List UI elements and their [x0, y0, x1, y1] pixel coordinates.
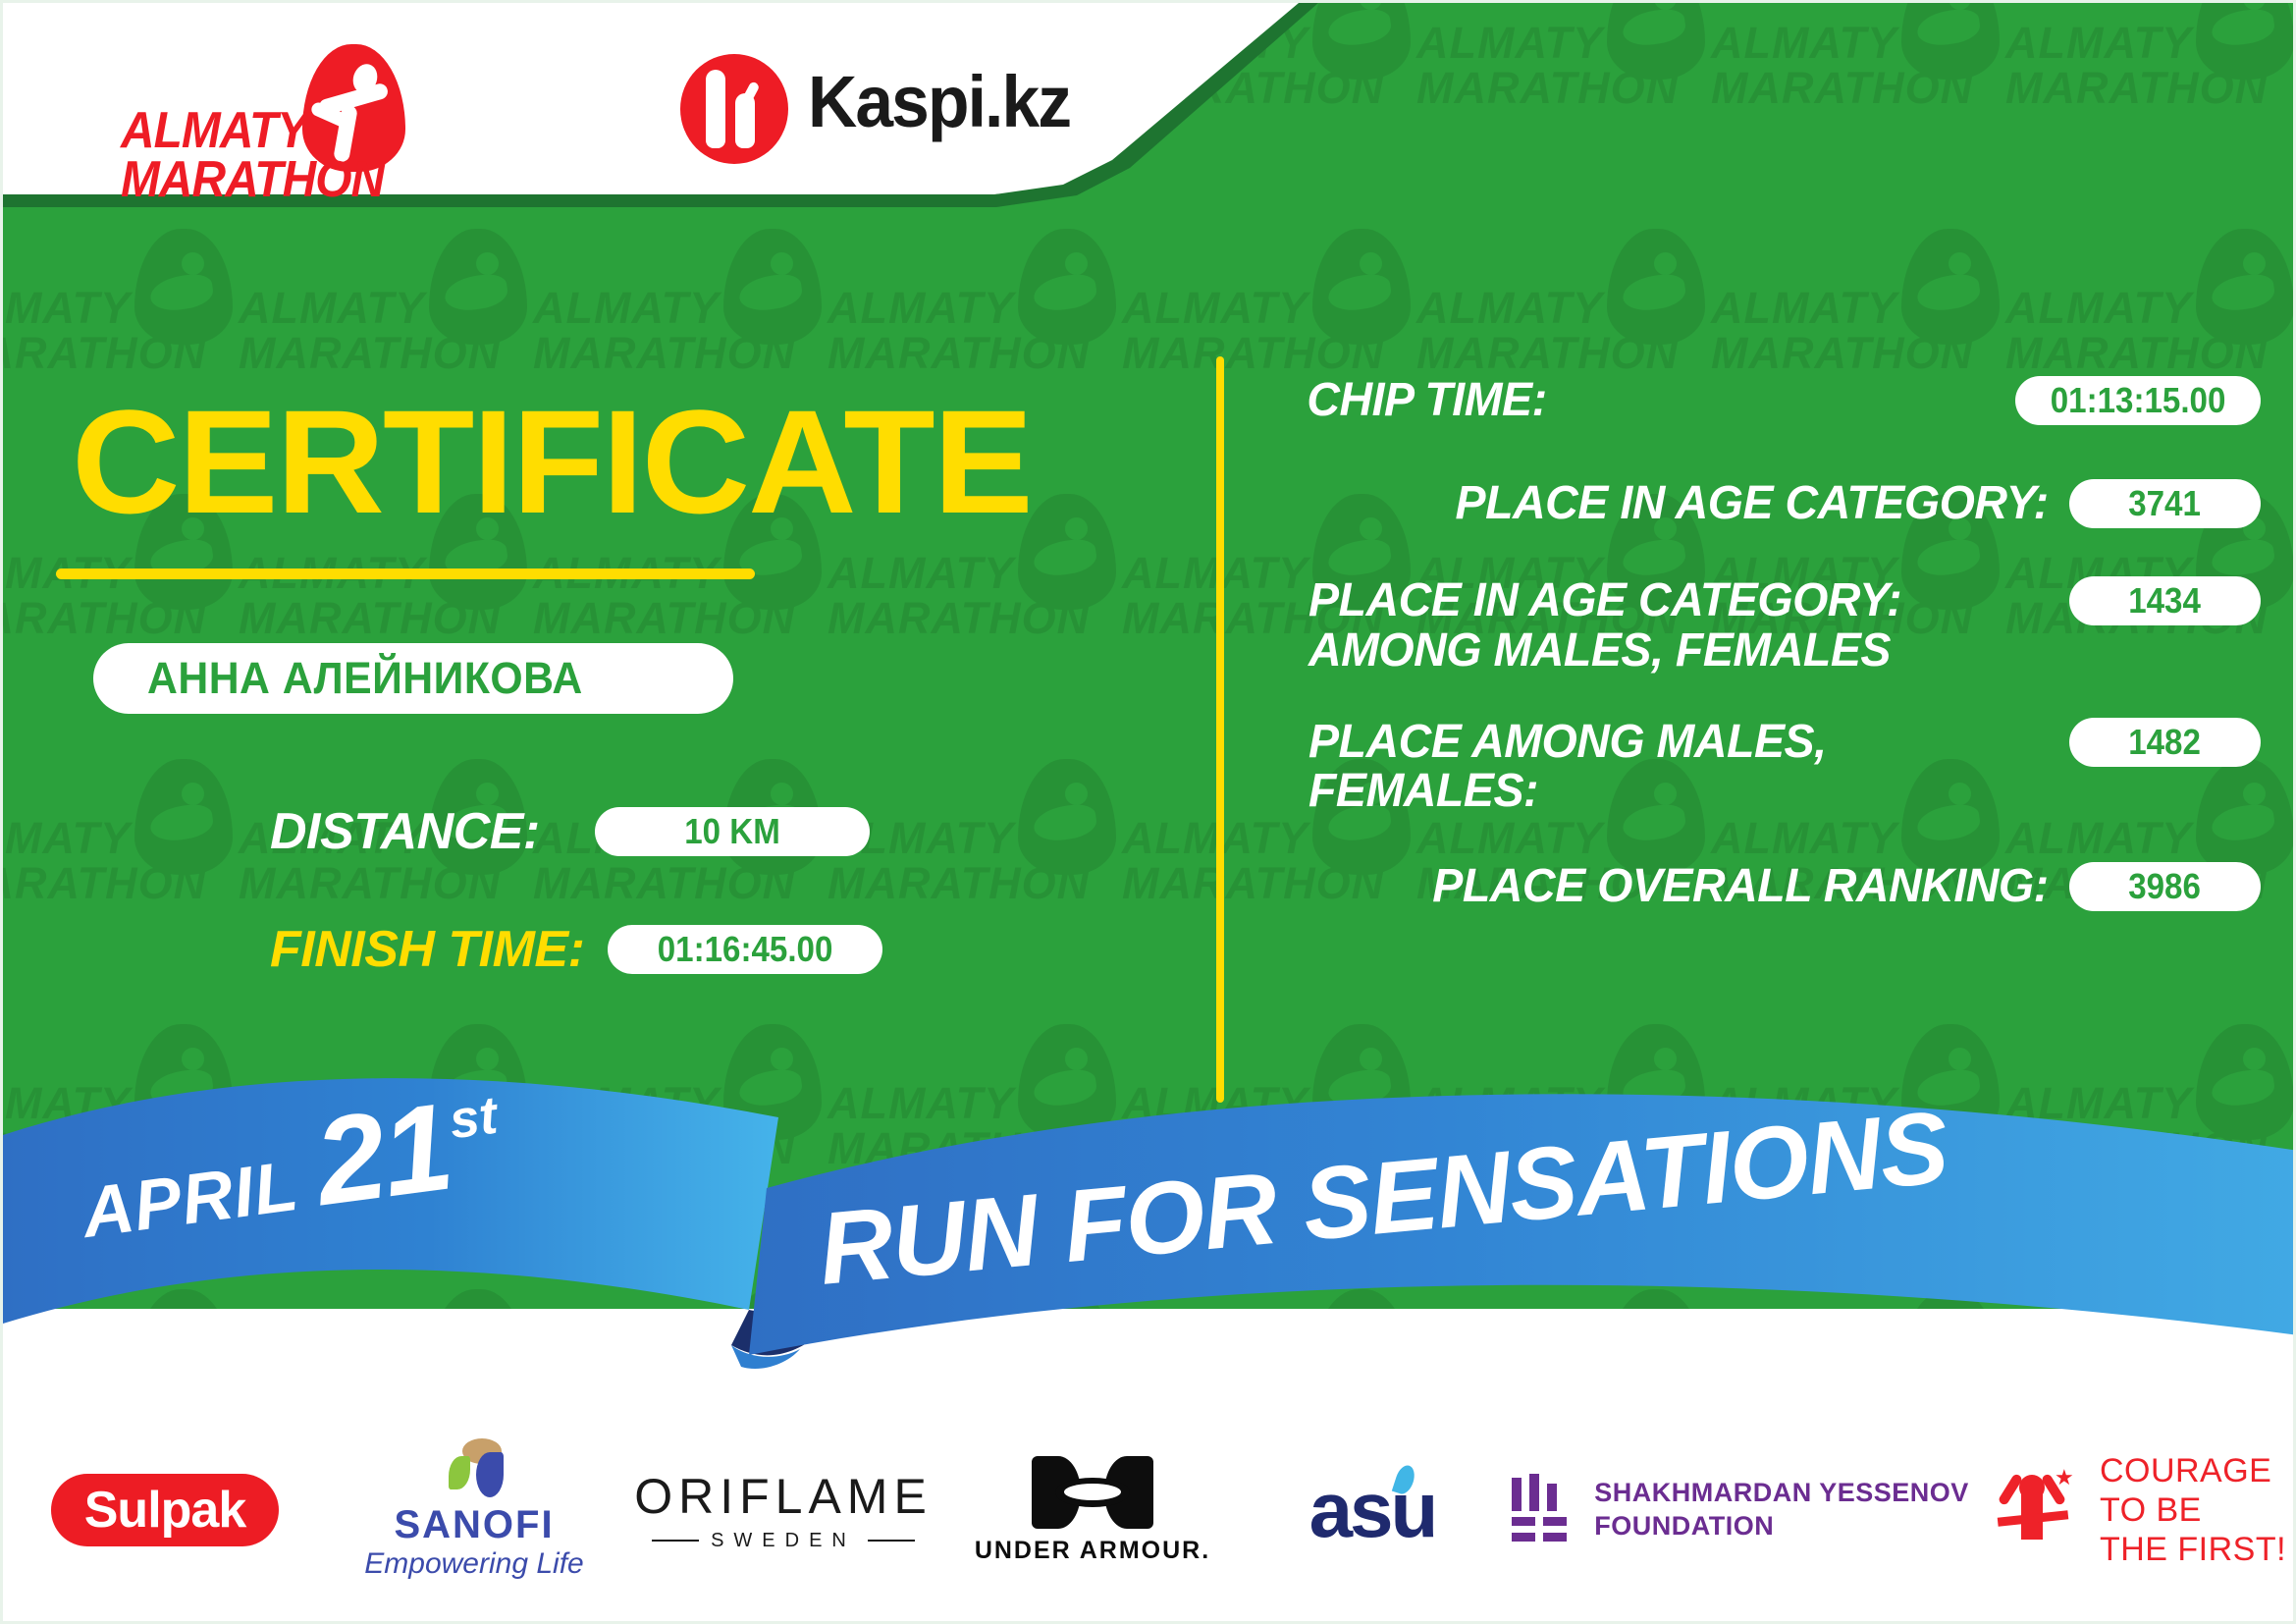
yessenov-mark-icon: [1512, 1474, 1573, 1546]
stat-row: PLACE OVERALL RANKING: 3986: [1269, 862, 2261, 912]
watermark-line2: MARATHON: [1711, 66, 1973, 110]
kaspi-logo-text: Kaspi.kz: [808, 66, 1070, 138]
oriflame-name: ORIFLAME: [634, 1470, 933, 1524]
finish-time-value: 01:16:45.00: [658, 929, 833, 970]
courage-line1: COURAGE: [2100, 1451, 2286, 1490]
sponsor-sanofi: SANOFI Empowering Life: [327, 1438, 621, 1582]
distance-value: 10 KM: [684, 811, 780, 852]
watermark-line2: MARATHON: [1711, 331, 1973, 375]
stat-value-pill: 1434: [2069, 576, 2261, 625]
sponsor-oriflame: ORIFLAME SWEDEN: [621, 1470, 945, 1551]
watermark-line2: MARATHON: [828, 861, 1090, 905]
watermark-line1: ALMATY: [239, 286, 425, 330]
athlete-name-value: АННА АЛЕЙНИКОВА: [147, 653, 583, 704]
watermark-line2: MARATHON: [3, 861, 206, 905]
watermark-line1: ALMATY: [1122, 286, 1308, 330]
stat-value: 3986: [2129, 866, 2202, 907]
distance-row: DISTANCE: 10 KM: [270, 806, 870, 857]
watermark-line2: MARATHON: [239, 331, 501, 375]
watermark-line1: ALMATY: [2005, 21, 2192, 65]
asu-name: asu: [1309, 1471, 1436, 1549]
watermark-line2: MARATHON: [2005, 331, 2268, 375]
under-armour-mark-icon: [1032, 1456, 1153, 1529]
watermark-line2: MARATHON: [2005, 66, 2268, 110]
kaspi-people-icon: [680, 54, 788, 164]
sponsor-bar: Sulpak SANOFI Empowering Life ORIFLAME S…: [3, 1417, 2296, 1603]
stat-value: 3741: [2129, 483, 2202, 524]
yessenov-line1: SHAKHMARDAN YESSENOV: [1594, 1477, 1969, 1510]
finish-time-label: FINISH TIME:: [270, 924, 584, 975]
watermark-tile: ALMATYMARATHON: [3, 759, 239, 1024]
under-armour-name: UNDER ARMOUR.: [975, 1537, 1210, 1565]
watermark-line2: MARATHON: [239, 861, 501, 905]
watermark-tile: ALMATYMARATHON: [533, 759, 828, 1024]
star-icon: ★: [2055, 1467, 2074, 1489]
asu-wordmark: asu: [1309, 1466, 1436, 1553]
watermark-line2: MARATHON: [533, 331, 795, 375]
stat-row: PLACE IN AGE CATEGORY: 3741: [1269, 479, 2261, 529]
stat-value-pill: 3986: [2069, 862, 2261, 911]
stat-value: 01:13:15.00: [2051, 380, 2226, 421]
sulpak-name: Sulpak: [84, 1482, 246, 1539]
courage-name: COURAGE TO BE THE FIRST!: [2100, 1451, 2286, 1569]
sponsor-yessenov: SHAKHMARDAN YESSENOV FOUNDATION: [1505, 1474, 1976, 1546]
yessenov-name: SHAKHMARDAN YESSENOV FOUNDATION: [1594, 1477, 1969, 1543]
sanofi-mark-icon: [443, 1438, 506, 1497]
watermark-line2: MARATHON: [828, 596, 1090, 640]
sanofi-tagline: Empowering Life: [364, 1546, 583, 1582]
kaspi-person-tall-icon: [706, 70, 725, 148]
watermark-line2: MARATHON: [533, 596, 795, 640]
finish-time-row: FINISH TIME: 01:16:45.00: [270, 924, 882, 975]
sulpak-logo: Sulpak: [51, 1474, 280, 1547]
watermark-line2: MARATHON: [3, 596, 206, 640]
courage-line3: THE FIRST!: [2100, 1530, 2286, 1569]
watermark-line2: MARATHON: [3, 331, 206, 375]
almaty-logo-line2: MARATHON: [121, 154, 384, 205]
distance-label: DISTANCE:: [270, 806, 540, 857]
watermark-tile: ALMATYMARATHON: [828, 759, 1122, 1024]
athlete-name-field: АННА АЛЕЙНИКОВА: [93, 643, 733, 714]
oriflame-country: SWEDEN: [652, 1530, 915, 1551]
stat-label: PLACE IN AGE CATEGORY: AMONG MALES, FEMA…: [1293, 576, 2069, 677]
sanofi-name: SANOFI: [394, 1503, 554, 1546]
watermark-tile: ALMATYMARATHON: [1711, 3, 2005, 229]
watermark-line2: MARATHON: [1416, 66, 1679, 110]
vertical-divider: [1216, 356, 1224, 1103]
watermark-line1: ALMATY: [533, 286, 720, 330]
sponsor-asu: asu: [1240, 1471, 1505, 1549]
watermark-line1: ALMATY: [1416, 21, 1603, 65]
watermark-tile: ALMATYMARATHON: [1416, 3, 1711, 229]
stat-row: PLACE AMONG MALES, FEMALES: 1482: [1269, 718, 2261, 818]
watermark-line1: ALMATY: [2005, 286, 2192, 330]
stat-label: PLACE AMONG MALES, FEMALES:: [1293, 718, 2069, 818]
stat-value-pill: 01:13:15.00: [2015, 376, 2261, 425]
watermark-line2: MARATHON: [828, 331, 1090, 375]
stat-value: 1482: [2129, 722, 2202, 763]
title-underline: [56, 568, 755, 579]
watermark-line1: ALMATY: [828, 286, 1014, 330]
watermark-tile: ALMATYMARATHON: [2005, 3, 2296, 229]
watermark-line1: ALMATY: [1711, 21, 1897, 65]
stat-label: PLACE IN AGE CATEGORY:: [1293, 479, 2069, 529]
page-title: CERTIFICATE: [72, 388, 1032, 535]
certificate-canvas: ALMATYMARATHONALMATYMARATHONALMATYMARATH…: [0, 0, 2296, 1624]
stat-row: CHIP TIME: 01:13:15.00: [1269, 376, 2261, 426]
stat-value-pill: 1482: [2069, 718, 2261, 767]
watermark-tile: ALMATYMARATHON: [239, 759, 533, 1024]
stat-label: CHIP TIME:: [1292, 376, 2015, 426]
event-day: 21: [309, 1092, 455, 1218]
kaspi-logo: Kaspi.kz: [680, 54, 1093, 172]
stat-row: PLACE IN AGE CATEGORY: AMONG MALES, FEMA…: [1269, 576, 2261, 677]
sponsor-under-armour: UNDER ARMOUR.: [945, 1456, 1240, 1565]
stat-value: 1434: [2129, 580, 2202, 622]
watermark-line2: MARATHON: [239, 596, 501, 640]
distance-value-pill: 10 KM: [595, 807, 870, 856]
watermark-line1: ALMATY: [3, 286, 131, 330]
yessenov-line2: FOUNDATION: [1594, 1510, 1969, 1543]
watermark-line2: MARATHON: [1416, 331, 1679, 375]
watermark-line2: MARATHON: [1122, 331, 1384, 375]
watermark-line1: ALMATY: [1416, 286, 1603, 330]
event-day-suffix: st: [447, 1089, 501, 1148]
results-panel: CHIP TIME: 01:13:15.00 PLACE IN AGE CATE…: [1269, 376, 2261, 930]
almaty-marathon-logo: ALMATY MARATHON: [121, 44, 435, 182]
courage-line2: TO BE: [2100, 1490, 2286, 1530]
finish-time-value-pill: 01:16:45.00: [608, 925, 882, 974]
stat-label: PLACE OVERALL RANKING:: [1293, 862, 2069, 912]
watermark-line1: ALMATY: [1711, 286, 1897, 330]
watermark-line1: ALMATY: [3, 816, 131, 860]
almaty-logo-line1: ALMATY: [121, 105, 307, 156]
courage-mark-icon: ★: [1980, 1459, 2086, 1561]
stat-value-pill: 3741: [2069, 479, 2261, 528]
watermark-line2: MARATHON: [533, 861, 795, 905]
sponsor-sulpak: Sulpak: [3, 1474, 327, 1547]
watermark-line1: ALMATY: [828, 551, 1014, 595]
sponsor-courage: ★ COURAGE TO BE THE FIRST!: [1976, 1451, 2290, 1569]
